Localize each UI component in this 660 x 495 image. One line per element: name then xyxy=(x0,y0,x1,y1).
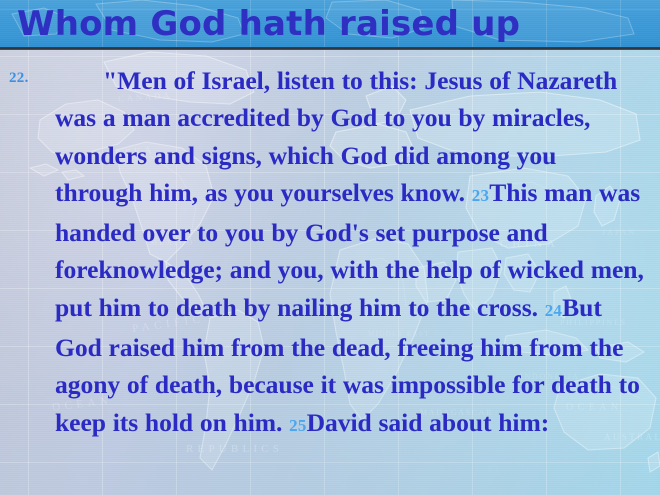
inline-verse-number: 24 xyxy=(545,301,562,320)
title-banner: Whom God hath raised up xyxy=(0,0,660,47)
banner-divider-rule xyxy=(0,47,660,50)
inline-verse-number: 25 xyxy=(289,416,306,435)
slide-title: Whom God hath raised up xyxy=(17,4,520,44)
scripture-body-block: "Men of Israel, listen to this: Jesus of… xyxy=(8,62,653,444)
inline-verse-number: 23 xyxy=(472,186,489,205)
slide-canvas: AlaskaCanadaMexicoPacificOceanRepublicsC… xyxy=(0,0,660,495)
scripture-text: "Men of Israel, listen to this: Jesus of… xyxy=(8,62,653,444)
